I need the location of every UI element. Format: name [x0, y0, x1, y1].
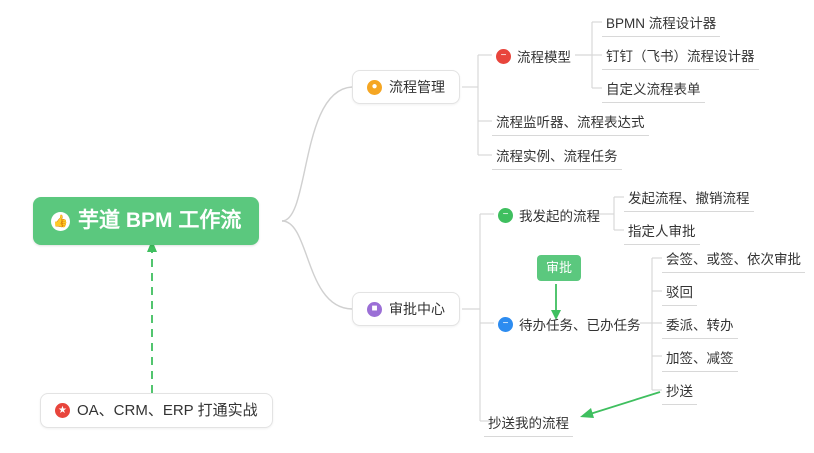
branch-liuchengguanli[interactable]: ● 流程管理 — [352, 70, 460, 104]
minus-square-blue-icon: − — [498, 317, 513, 332]
leaf-chaosong[interactable]: 抄送 — [662, 378, 697, 405]
branch-label: 流程管理 — [389, 71, 445, 103]
star-icon: ★ — [55, 403, 70, 418]
minus-circle-icon: − — [496, 49, 511, 64]
location-pin-icon: ● — [367, 80, 382, 95]
thumbs-up-icon: 👍 — [51, 212, 70, 231]
mindmap-canvas: 👍 芋道 BPM 工作流 ● 流程管理 − 流程模型 BPMN 流程设计器 钉钉… — [0, 0, 814, 453]
node-liuchengmoxing[interactable]: − 流程模型 — [492, 44, 575, 70]
root-node[interactable]: 👍 芋道 BPM 工作流 — [33, 197, 259, 245]
leaf-weipai-zhuanban[interactable]: 委派、转办 — [662, 312, 738, 339]
minus-square-icon: − — [498, 208, 513, 223]
leaf-instance-task[interactable]: 流程实例、流程任务 — [492, 143, 622, 170]
footnote-label: OA、CRM、ERP 打通实战 — [77, 395, 258, 427]
leaf-listener-expression[interactable]: 流程监听器、流程表达式 — [492, 109, 649, 136]
leaf-zhidingren-shenpi[interactable]: 指定人审批 — [624, 218, 700, 245]
leaf-chaosongwodeliucheng[interactable]: 抄送我的流程 — [484, 410, 573, 437]
leaf-jiaqian-jianqian[interactable]: 加签、减签 — [662, 345, 738, 372]
leaf-faqi-chexiao[interactable]: 发起流程、撤销流程 — [624, 185, 754, 212]
branch-shenpizhongxin[interactable]: ■ 审批中心 — [352, 292, 460, 326]
leaf-bpmn-designer[interactable]: BPMN 流程设计器 — [602, 10, 720, 37]
footnote-card[interactable]: ★ OA、CRM、ERP 打通实战 — [40, 393, 273, 428]
message-square-icon: ■ — [367, 302, 382, 317]
leaf-huiqian-huoqian[interactable]: 会签、或签、依次审批 — [662, 246, 805, 273]
leaf-bohui[interactable]: 驳回 — [662, 279, 697, 306]
node-daiban-yiban[interactable]: − 待办任务、已办任务 — [494, 312, 645, 338]
branch-label: 审批中心 — [389, 293, 445, 325]
tag-shenpi[interactable]: 审批 — [537, 255, 581, 281]
leaf-dingding-designer[interactable]: 钉钉（飞书）流程设计器 — [602, 43, 759, 70]
root-label: 芋道 BPM 工作流 — [78, 197, 241, 245]
node-wofaqidiliucheng[interactable]: − 我发起的流程 — [494, 203, 604, 229]
leaf-custom-form[interactable]: 自定义流程表单 — [602, 76, 705, 103]
